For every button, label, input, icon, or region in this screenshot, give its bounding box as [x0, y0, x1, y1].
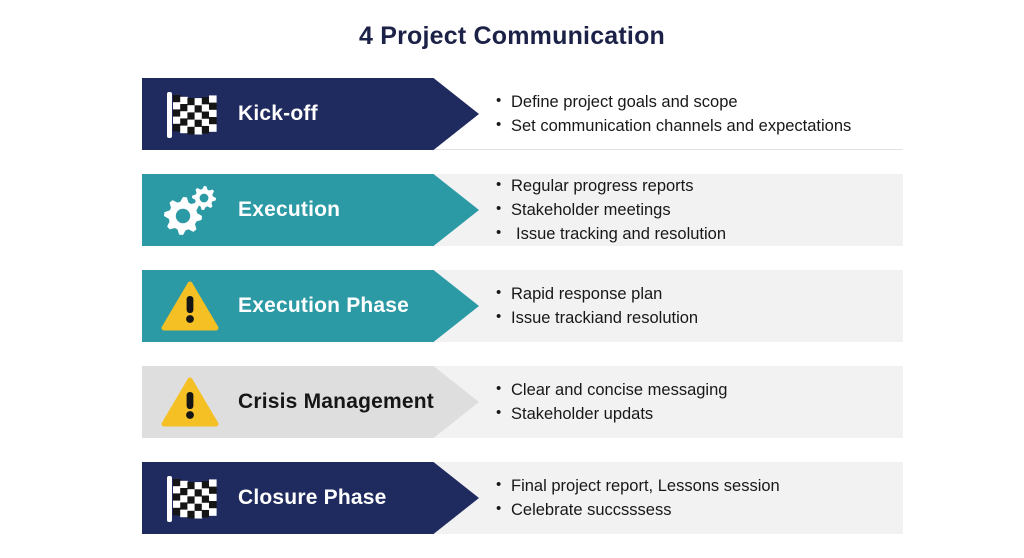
page-title: 4 Project Communication	[0, 22, 1024, 51]
phase-arrow[interactable]: Closure Phase	[142, 462, 479, 534]
phase-bullet-item: Final project report, Lessons session	[511, 474, 780, 498]
phase-label: Crisis Management	[238, 390, 434, 414]
phase-arrow[interactable]: Execution Phase	[142, 270, 479, 342]
infographic-page: 4 Project Communication Kick-offDefine p…	[0, 0, 1024, 558]
phase-bullet-item: Regular progress reports	[511, 174, 726, 198]
phase-label: Closure Phase	[238, 486, 387, 510]
phase-bullet-item: Clear and concise messaging	[511, 378, 727, 402]
phase-bullet-list: Rapid response planIssue trackiand resol…	[493, 270, 698, 342]
warning-triangle-icon	[142, 270, 238, 342]
phase-bullet-item: Issue tracking and resolution	[511, 222, 726, 246]
phase-bullet-item: Set communication channels and expectati…	[511, 114, 851, 138]
checkered-flag-icon	[142, 462, 238, 534]
phase-bullet-item: Stakeholder meetings	[511, 198, 726, 222]
phase-bullet-list: Regular progress reportsStakeholder meet…	[493, 174, 726, 246]
checkered-flag-icon	[142, 78, 238, 150]
gears-icon	[142, 174, 238, 246]
phase-row: Crisis ManagementClear and concise messa…	[0, 366, 1024, 438]
phase-arrow[interactable]: Execution	[142, 174, 479, 246]
phase-arrow[interactable]: Kick-off	[142, 78, 479, 150]
phase-bullet-item: Define project goals and scope	[511, 90, 851, 114]
phase-bullet-list: Clear and concise messagingStakeholder u…	[493, 366, 727, 438]
phase-row: ExecutionRegular progress reportsStakeho…	[0, 174, 1024, 246]
phase-bullet-item: Rapid response plan	[511, 282, 698, 306]
phase-row: Execution PhaseRapid response planIssue …	[0, 270, 1024, 342]
phase-bullet-list: Final project report, Lessons sessionCel…	[493, 462, 780, 534]
phase-row-list: Kick-offDefine project goals and scopeSe…	[0, 78, 1024, 558]
phase-label: Kick-off	[238, 102, 318, 126]
phase-label: Execution Phase	[238, 294, 409, 318]
phase-arrow[interactable]: Crisis Management	[142, 366, 479, 438]
phase-row: Closure PhaseFinal project report, Lesso…	[0, 462, 1024, 534]
phase-row: Kick-offDefine project goals and scopeSe…	[0, 78, 1024, 150]
phase-bullet-list: Define project goals and scopeSet commun…	[493, 78, 851, 150]
phase-label: Execution	[238, 198, 340, 222]
warning-triangle-icon	[142, 366, 238, 438]
phase-bullet-item: Issue trackiand resolution	[511, 306, 698, 330]
phase-bullet-item: Stakeholder updats	[511, 402, 727, 426]
phase-bullet-item: Celebrate succsssess	[511, 498, 780, 522]
